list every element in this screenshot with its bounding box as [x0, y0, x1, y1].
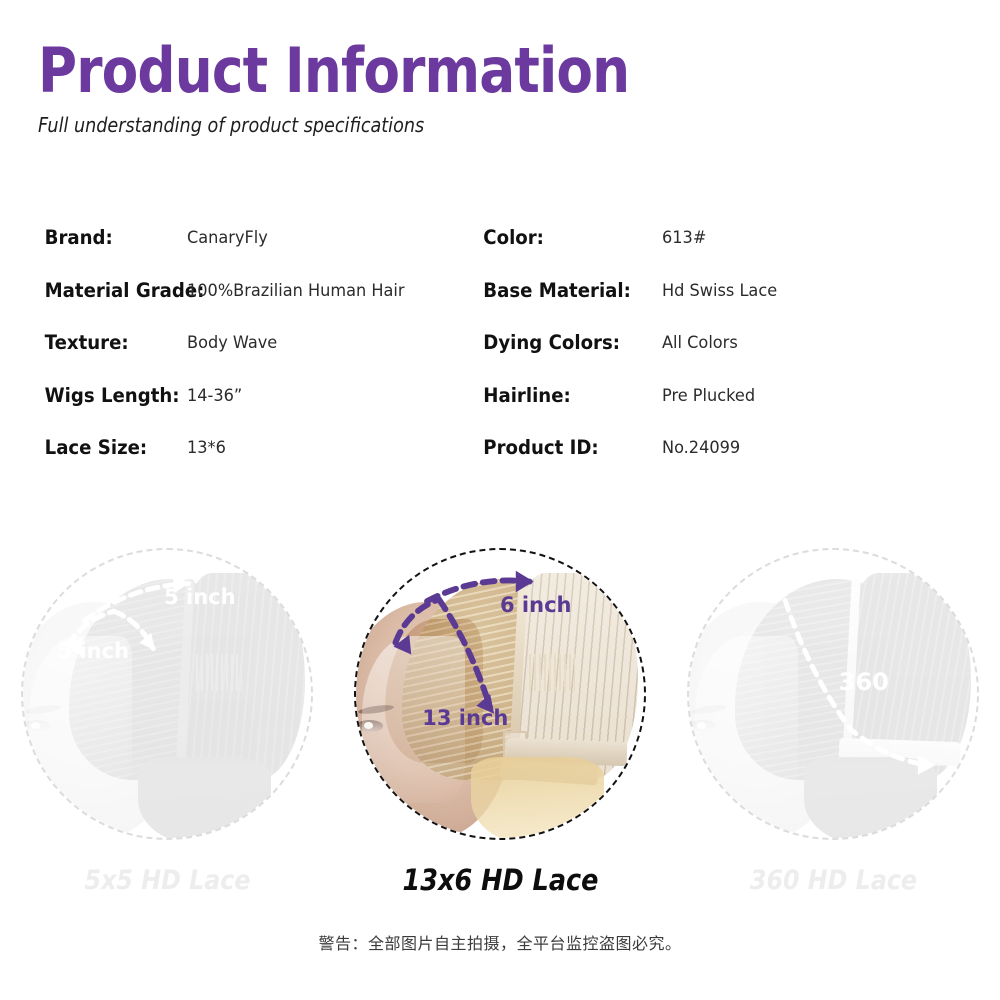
nose: [687, 734, 693, 762]
spec-value-hairline: Pre Plucked: [662, 370, 983, 423]
nose: [354, 734, 360, 762]
lace-option-5x5[interactable]: 5 inch 5 inch: [1, 548, 334, 858]
spec-label-color: Color:: [474, 212, 649, 265]
lace-option-13x6[interactable]: 6 inch 13 inch: [334, 548, 667, 858]
hair-strands: [804, 757, 936, 840]
lace-caption-13x6[interactable]: 13x6 HD Lace: [353, 863, 646, 897]
spec-value-color: 613#: [662, 212, 983, 265]
spec-value-lace-size: 13*6: [187, 422, 460, 475]
spec-label-hairline: Hairline:: [474, 370, 649, 423]
lace-caption-5x5[interactable]: 5x5 HD Lace: [20, 865, 313, 896]
spec-label-dying-colors: Dying Colors:: [474, 317, 649, 370]
spec-label-texture: Texture:: [0, 317, 174, 370]
lips: [21, 769, 30, 781]
wig-comb: [196, 654, 242, 691]
spec-label-base-material: Base Material:: [474, 265, 649, 318]
measure-label-360: 360: [839, 668, 889, 696]
spec-value-base-material: Hd Swiss Lace: [662, 265, 983, 318]
spec-label-product-id: Product ID:: [474, 422, 649, 475]
lace-circle-5x5: 5 inch 5 inch: [21, 548, 313, 840]
page-title: Product Information: [38, 40, 846, 102]
measure-label-5inch-top: 5 inch: [164, 585, 235, 609]
lace-front-veil: [695, 636, 799, 803]
hair-strands: [138, 757, 270, 840]
spec-label-material-grade: Material Grade:: [0, 265, 174, 318]
nose: [21, 734, 27, 762]
product-spec-table: Brand: CanaryFly Color: 613# Material Gr…: [0, 212, 1000, 475]
lace-caption-360[interactable]: 360 HD Lace: [686, 865, 979, 896]
lace-circle-360: 360: [687, 548, 979, 840]
lips: [687, 769, 696, 781]
lace-caption-row: 5x5 HD Lace 13x6 HD Lace 360 HD Lace: [0, 855, 1000, 905]
spec-value-product-id: No.24099: [662, 422, 983, 475]
wig-comb: [529, 654, 575, 691]
measure-label-13inch: 13 inch: [422, 706, 508, 730]
measure-label-5inch-front: 5 inch: [58, 639, 129, 663]
spec-label-wigs-length: Wigs Length:: [0, 370, 174, 423]
spec-label-lace-size: Lace Size:: [0, 422, 174, 475]
spec-value-texture: Body Wave: [187, 317, 460, 370]
wig-cap-illustration-360: [689, 550, 977, 838]
page-subtitle: Full understanding of product specificat…: [38, 113, 865, 137]
spec-value-dying-colors: All Colors: [662, 317, 983, 370]
lace-option-360[interactable]: 360: [667, 548, 1000, 858]
spec-value-material-grade: 100%Brazilian Human Hair: [187, 265, 460, 318]
lace-option-gallery: 5 inch 5 inch: [0, 548, 1000, 858]
copyright-warning-note: 警告：全部图片自主拍摄，全平台监控盗图必究。: [0, 930, 1000, 954]
spec-value-brand: CanaryFly: [187, 212, 460, 265]
page-header: Product Information Full understanding o…: [38, 40, 978, 137]
lace-circle-13x6: 6 inch 13 inch: [354, 548, 646, 840]
measure-label-6inch: 6 inch: [500, 593, 571, 617]
spec-value-wigs-length: 14-36”: [187, 370, 460, 423]
lips: [354, 769, 363, 781]
hair-strands: [471, 757, 603, 840]
spec-label-brand: Brand:: [0, 212, 174, 265]
